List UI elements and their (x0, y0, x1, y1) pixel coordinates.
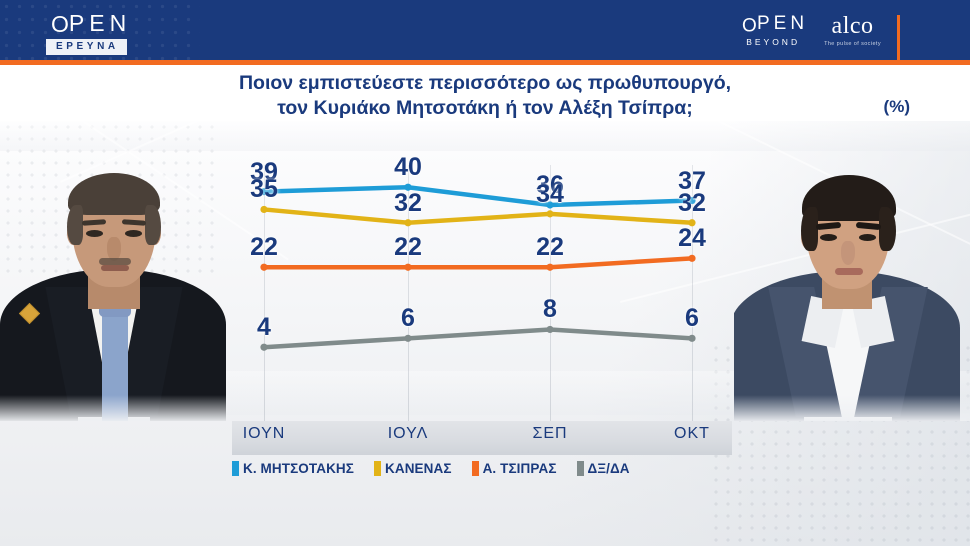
data-point (546, 264, 553, 271)
series-line-0 (264, 187, 692, 205)
x-axis-label-οκτ: ΟΚΤ (674, 425, 710, 443)
alco-logo: alco The pulse of society (824, 13, 881, 47)
partner-logos: OPEN BEYOND alco The pulse of society (738, 13, 900, 60)
legend-swatch-icon (232, 461, 239, 476)
legend-swatch-icon (577, 461, 584, 476)
x-axis-label-σεπ: ΣΕΠ (532, 425, 567, 443)
data-point (404, 219, 411, 226)
value-label: 40 (394, 155, 422, 180)
x-axis-band (232, 421, 732, 455)
open-ereyna-logo: OPEN ΕΡΕΥΝΑ (46, 11, 131, 55)
value-label: 6 (401, 306, 415, 331)
legend-label: ΔΞ/ΔΑ (588, 461, 630, 476)
legend-label: Α. ΤΣΙΠΡΑΣ (483, 461, 557, 476)
legend-swatch-icon (374, 461, 381, 476)
value-label: 24 (678, 226, 706, 251)
value-label: 22 (250, 235, 278, 260)
alco-wordmark: alco (824, 14, 881, 38)
legend-item[interactable]: Κ. ΜΗΤΣΟΤΑΚΗΣ (232, 461, 354, 476)
plot-area: 3940363735323432222222244686 (232, 121, 732, 421)
legend-item[interactable]: ΚΑΝΕΝΑΣ (374, 461, 452, 476)
unit-label: (%) (884, 97, 910, 117)
legend-item[interactable]: ΔΞ/ΔΑ (577, 461, 630, 476)
data-point (260, 264, 267, 271)
series-lines (232, 121, 732, 421)
data-point (688, 335, 695, 342)
value-label: 6 (685, 306, 699, 331)
data-point (404, 335, 411, 342)
chart-legend: Κ. ΜΗΤΣΟΤΑΚΗΣΚΑΝΕΝΑΣΑ. ΤΣΙΠΡΑΣΔΞ/ΔΑ (232, 461, 752, 476)
value-label: 22 (536, 235, 564, 260)
data-point (688, 255, 695, 262)
x-axis-label-ιουλ: ΙΟΥΛ (388, 425, 429, 443)
value-label: 34 (536, 182, 564, 207)
data-point (404, 264, 411, 271)
open-wordmark: OPEN (46, 11, 131, 36)
alco-tagline: The pulse of society (824, 41, 881, 47)
open-beyond-sub: BEYOND (738, 37, 808, 47)
chart-stage: 3940363735323432222222244686 ΙΟΥΝΙΟΥΛΣΕΠ… (0, 121, 970, 546)
data-point (260, 206, 267, 213)
value-label: 4 (257, 315, 271, 340)
data-point (546, 326, 553, 333)
value-label: 32 (394, 191, 422, 216)
header-bar: OPEN ΕΡΕΥΝΑ OPEN BEYOND alco The pulse o… (0, 0, 970, 60)
open-beyond-logo: OPEN BEYOND (738, 13, 808, 47)
series-line-3 (264, 329, 692, 347)
value-label: 22 (394, 235, 422, 260)
line-chart: 3940363735323432222222244686 ΙΟΥΝΙΟΥΛΣΕΠ… (0, 121, 970, 546)
legend-item[interactable]: Α. ΤΣΙΠΡΑΣ (472, 461, 557, 476)
x-axis-label-ιουν: ΙΟΥΝ (243, 425, 286, 443)
title-line-1: Ποιον εμπιστεύεστε περισσότερο ως πρωθυπ… (0, 71, 970, 96)
title-line-2: τον Κυριάκο Μητσοτάκη ή τον Αλέξη Τσίπρα… (0, 96, 970, 121)
data-point (260, 344, 267, 351)
series-line-2 (264, 258, 692, 267)
title-area: Ποιον εμπιστεύεστε περισσότερο ως πρωθυπ… (0, 65, 970, 121)
orange-accent-bar (897, 15, 900, 60)
open-beyond-wordmark: OPEN (738, 13, 808, 34)
data-point (546, 210, 553, 217)
value-label: 32 (678, 191, 706, 216)
poll-graphic: OPEN ΕΡΕΥΝΑ OPEN BEYOND alco The pulse o… (0, 0, 970, 546)
value-label: 8 (543, 297, 557, 322)
ereyna-badge: ΕΡΕΥΝΑ (46, 39, 127, 55)
legend-label: ΚΑΝΕΝΑΣ (385, 461, 452, 476)
legend-label: Κ. ΜΗΤΣΟΤΑΚΗΣ (243, 461, 354, 476)
page-title: Ποιον εμπιστεύεστε περισσότερο ως πρωθυπ… (0, 71, 970, 121)
series-line-1 (264, 209, 692, 222)
value-label: 35 (250, 177, 278, 202)
legend-swatch-icon (472, 461, 479, 476)
